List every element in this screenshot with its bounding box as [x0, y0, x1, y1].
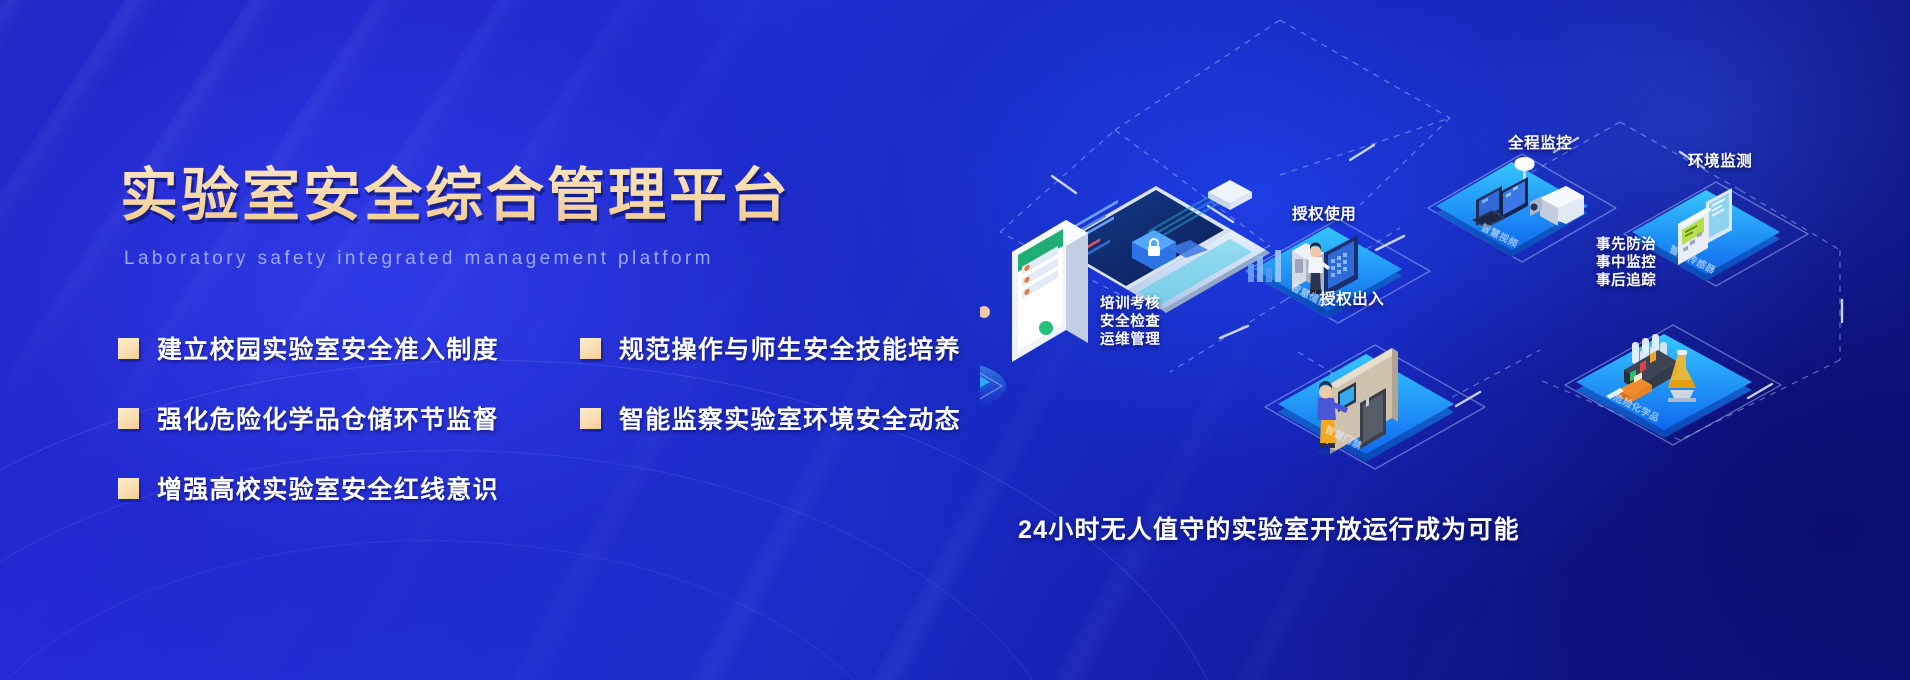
feature-label: 增强高校实验室安全红线意识 — [157, 470, 499, 506]
isometric-diagram: 授权使用 全程监控 环境监测 授权出入 培训考核 安全检查 运维管理 事先防治 … — [980, 0, 1910, 680]
label-inspection: 安全检查 — [1100, 313, 1160, 333]
feature-row-1: 建立校园实验室安全准入制度 规范操作与师生安全技能培养 — [118, 330, 958, 400]
node-auth-access — [1265, 345, 1485, 469]
label-full-monitor: 全程监控 — [1508, 134, 1572, 155]
label-monitor: 事中监控 — [1596, 254, 1656, 274]
feature-item-3: 强化危险化学品仓储环节监督 — [118, 400, 499, 436]
label-auth-use: 授权使用 — [1292, 205, 1356, 226]
square-bullet-icon — [118, 478, 139, 499]
hero-text-pane: 实验室安全综合管理平台 Laboratory safety integrated… — [0, 0, 980, 680]
square-bullet-icon — [118, 408, 139, 429]
feature-item-2: 规范操作与师生安全技能培养 — [580, 330, 961, 366]
square-bullet-icon — [580, 408, 601, 429]
page-subtitle: Laboratory safety integrated management … — [124, 248, 714, 270]
label-ops: 运维管理 — [1100, 331, 1160, 351]
square-bullet-icon — [580, 338, 601, 359]
feature-item-1: 建立校园实验室安全准入制度 — [118, 330, 499, 366]
feature-row-3: 增强高校实验室安全红线意识 — [118, 470, 958, 540]
node-chemicals — [1565, 325, 1781, 445]
label-training: 培训考核 — [1100, 295, 1160, 315]
page-title: 实验室安全综合管理平台 — [120, 148, 791, 232]
feature-label: 建立校园实验室安全准入制度 — [157, 330, 499, 366]
feature-item-4: 智能监察实验室环境安全动态 — [580, 400, 961, 436]
diagram-tagline: 24小时无人值守的实验室开放运行成为可能 — [1018, 510, 1520, 546]
label-prevent: 事先防治 — [1596, 236, 1656, 256]
label-trace: 事后追踪 — [1596, 272, 1656, 292]
feature-label: 智能监察实验室环境安全动态 — [619, 400, 961, 436]
square-bullet-icon — [118, 338, 139, 359]
label-env-monitor: 环境监测 — [1688, 152, 1752, 173]
banner-stage: 实验室安全综合管理平台 Laboratory safety integrated… — [0, 0, 1910, 680]
feature-label: 强化危险化学品仓储环节监督 — [157, 400, 499, 436]
node-full-monitor — [1428, 154, 1616, 262]
feature-item-5: 增强高校实验室安全红线意识 — [118, 470, 499, 506]
feature-list: 建立校园实验室安全准入制度 规范操作与师生安全技能培养 强化危险化学品仓储环节监… — [118, 330, 958, 540]
feature-row-2: 强化危险化学品仓储环节监督 智能监察实验室环境安全动态 — [118, 400, 958, 470]
feature-label: 规范操作与师生安全技能培养 — [619, 330, 961, 366]
